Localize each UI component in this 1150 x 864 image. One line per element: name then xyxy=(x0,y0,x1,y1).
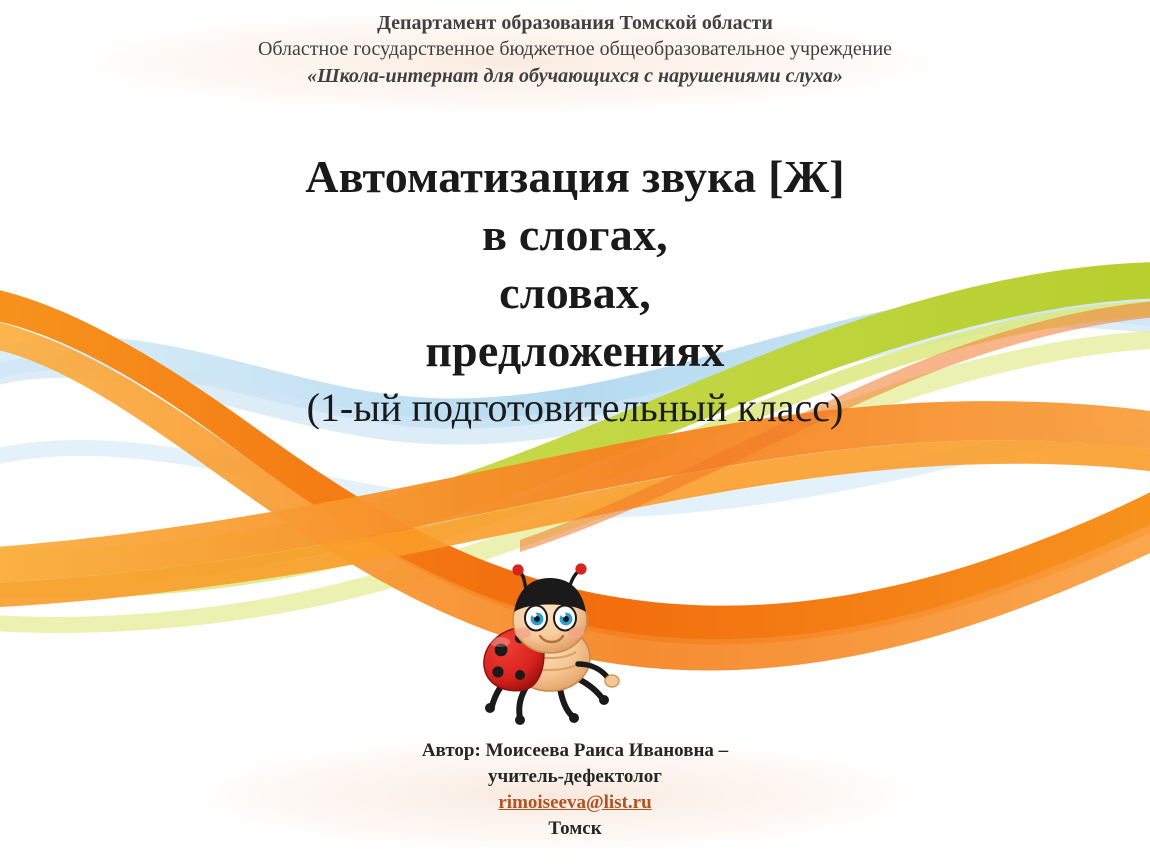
title-line-1: Автоматизация звука [Ж] xyxy=(0,148,1150,206)
presentation-slide: Департамент образования Томской области … xyxy=(0,0,1150,864)
ladybug-icon xyxy=(468,560,648,730)
title-line-2: в слогах, xyxy=(0,206,1150,264)
title-line-4: предложениях xyxy=(0,322,1150,380)
header-line-1: Департамент образования Томской области xyxy=(0,10,1150,36)
slide-header: Департамент образования Томской области … xyxy=(0,10,1150,90)
slide-title: Автоматизация звука [Ж] в слогах, словах… xyxy=(0,148,1150,436)
title-line-3: словах, xyxy=(0,264,1150,322)
header-line-3: «Школа-интернат для обучающихся с наруше… xyxy=(0,63,1150,90)
header-line-2: Областное государственное бюджетное обще… xyxy=(0,36,1150,63)
city-label: Томск xyxy=(0,816,1150,842)
title-line-5: (1-ый подготовительный класс) xyxy=(0,380,1150,436)
author-role: учитель-дефектолог xyxy=(0,764,1150,790)
author-email-link[interactable]: rimoiseeva@list.ru xyxy=(0,790,1150,816)
slide-footer: Автор: Моисеева Раиса Ивановна – учитель… xyxy=(0,738,1150,842)
author-line: Автор: Моисеева Раиса Ивановна – xyxy=(0,738,1150,764)
